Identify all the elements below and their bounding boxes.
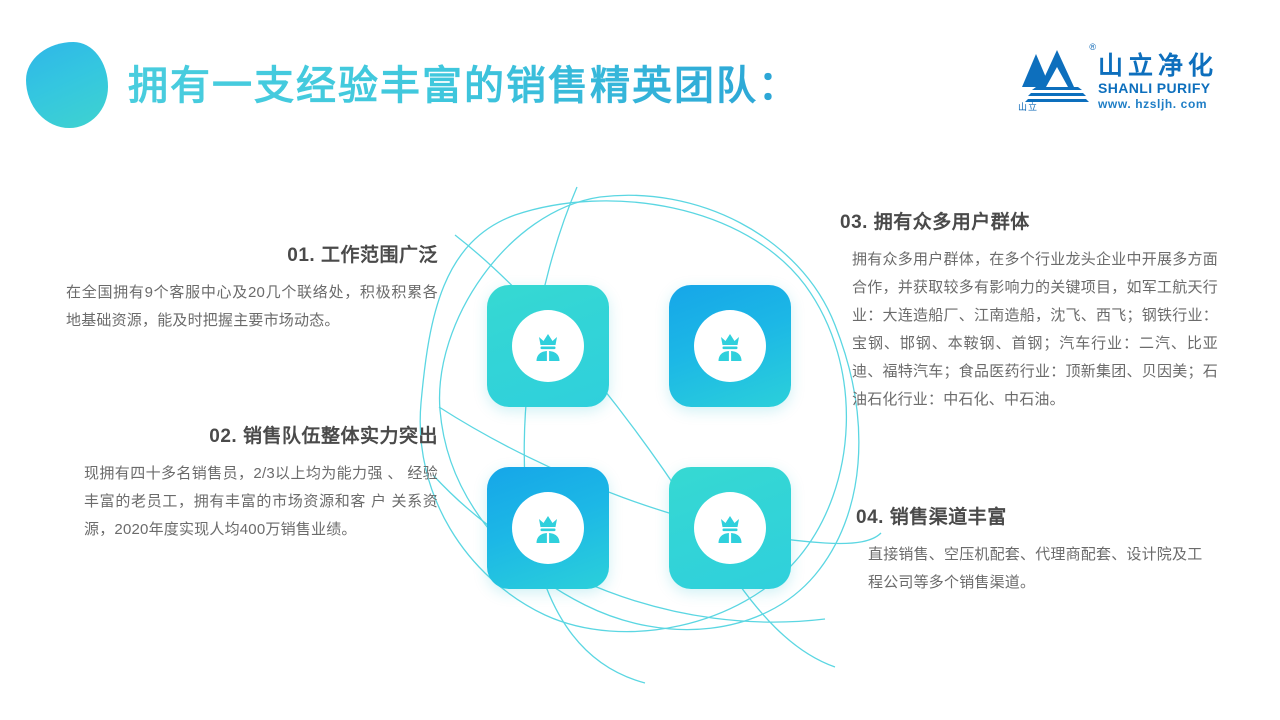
vip-crown-person-icon xyxy=(694,492,766,564)
logo-company-name-en: SHANLI PURIFY xyxy=(1098,80,1218,97)
company-logo: ® 山立 山立净化 SHANLI PURIFY www. hzsljh. com xyxy=(1016,40,1218,112)
center-graphic xyxy=(395,175,885,695)
section-03-body: 拥有众多用户群体，在多个行业龙头企业中开展多方面合作，并获取较多有影响力的关键项… xyxy=(840,246,1218,414)
page-title: 拥有一支经验丰富的销售精英团队： xyxy=(128,58,800,114)
section-01-body: 在全国拥有9个客服中心及20几个联络处，积极积累各地基础资源，能及时把握主要市场… xyxy=(66,279,438,335)
vip-crown-person-icon xyxy=(512,492,584,564)
logo-mark-caption: 山立 xyxy=(1018,100,1038,113)
mountain-logo-icon: ® 山立 xyxy=(1016,40,1090,112)
section-03-heading: 03. 拥有众多用户群体 xyxy=(840,210,1218,236)
logo-text-block: 山立净化 SHANLI PURIFY www. hzsljh. com xyxy=(1098,40,1218,112)
section-02-body: 现拥有四十多名销售员，2/3以上均为能力强 、 经验丰富的老员工，拥有丰富的市场… xyxy=(66,460,438,544)
vip-crown-person-icon xyxy=(512,310,584,382)
registered-trademark-icon: ® xyxy=(1089,42,1096,52)
tile-3[interactable] xyxy=(487,467,609,589)
section-04-heading: 04. 销售渠道丰富 xyxy=(856,505,1216,531)
section-02: 02. 销售队伍整体实力突出 现拥有四十多名销售员，2/3以上均为能力强 、 经… xyxy=(66,424,438,544)
logo-company-name-cn: 山立净化 xyxy=(1098,52,1218,80)
tile-1[interactable] xyxy=(487,285,609,407)
section-04: 04. 销售渠道丰富 直接销售、空压机配套、代理商配套、设计院及工程公司等多个销… xyxy=(856,505,1216,597)
vip-crown-person-icon xyxy=(694,310,766,382)
section-03: 03. 拥有众多用户群体 拥有众多用户群体，在多个行业龙头企业中开展多方面合作，… xyxy=(840,210,1218,414)
section-04-body: 直接销售、空压机配套、代理商配套、设计院及工程公司等多个销售渠道。 xyxy=(856,541,1216,597)
section-01-heading: 01. 工作范围广泛 xyxy=(66,243,438,269)
tile-grid xyxy=(487,285,791,571)
slide-header: 拥有一支经验丰富的销售精英团队： ® 山立 山立净化 SHANLI PURIFY… xyxy=(0,0,1280,150)
logo-website-url: www. hzsljh. com xyxy=(1098,97,1218,112)
section-02-heading: 02. 销售队伍整体实力突出 xyxy=(66,424,438,450)
section-01: 01. 工作范围广泛 在全国拥有9个客服中心及20几个联络处，积极积累各地基础资… xyxy=(66,243,438,335)
tile-2[interactable] xyxy=(669,285,791,407)
tile-4[interactable] xyxy=(669,467,791,589)
decorative-blob-shape xyxy=(26,42,108,128)
